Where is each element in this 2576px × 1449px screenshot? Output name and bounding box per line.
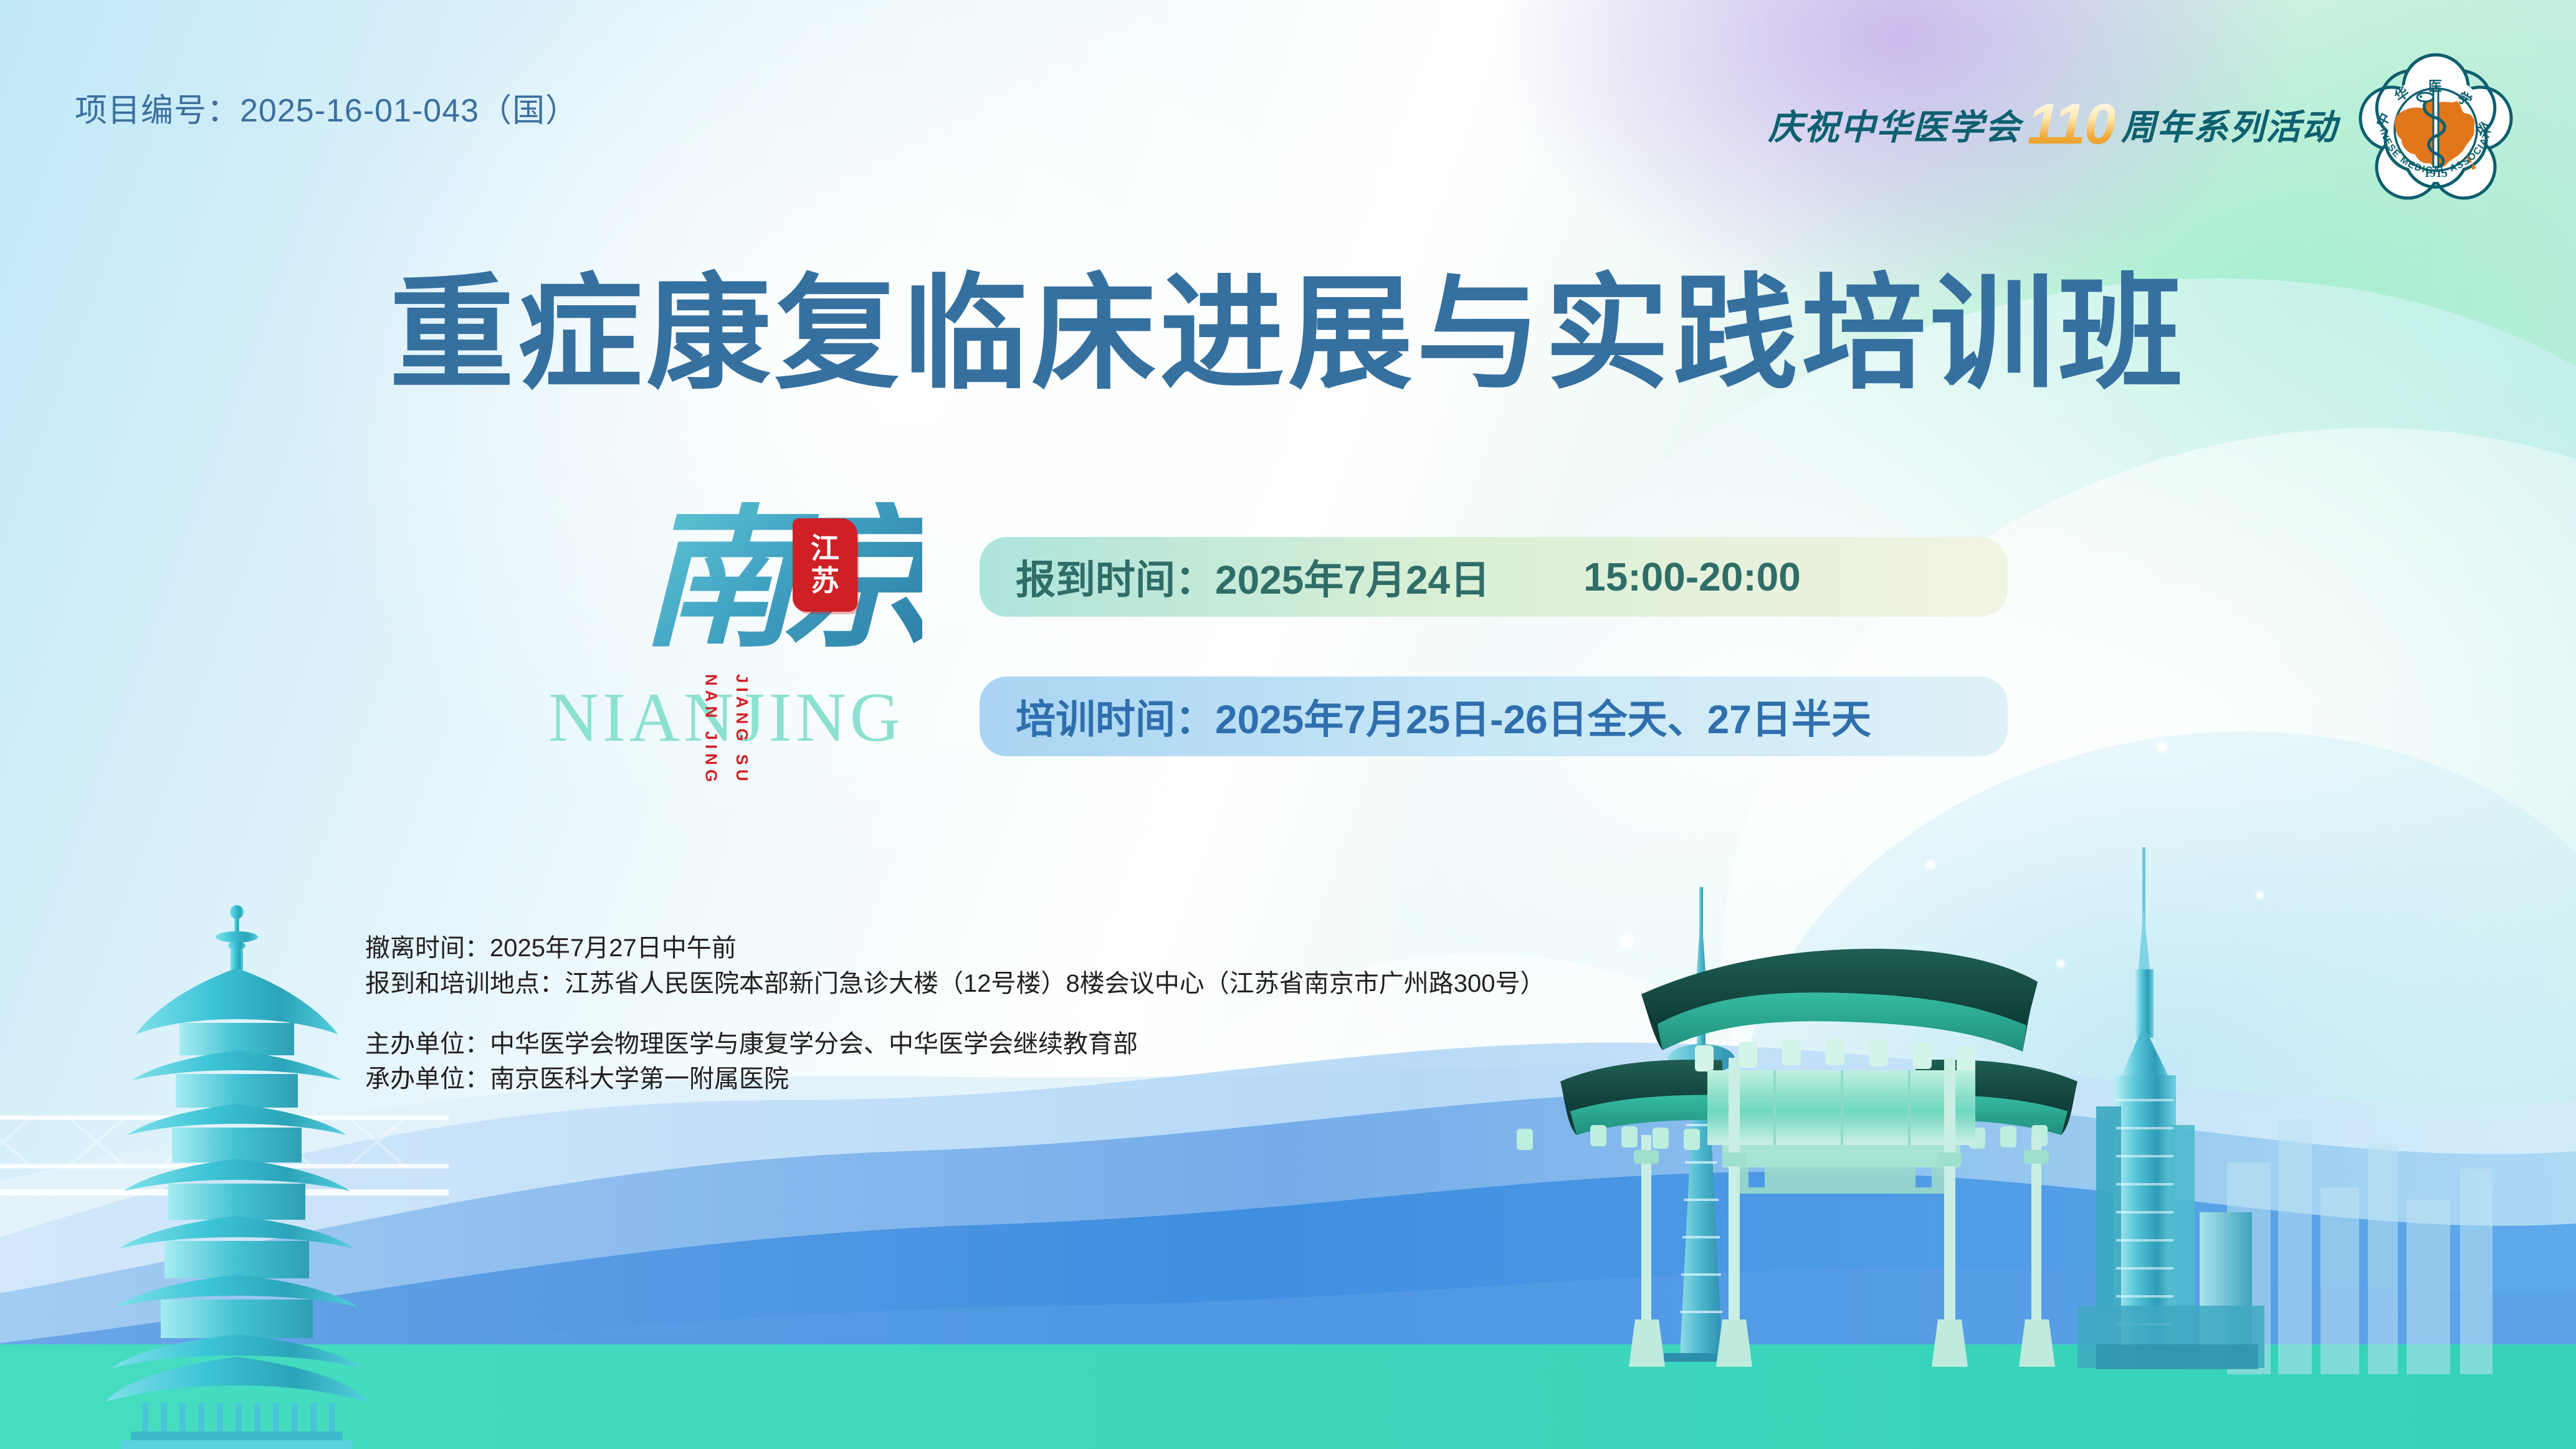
sparkle-dot [2156, 741, 2167, 753]
seal-char-2: 苏 [811, 565, 839, 597]
project-number: 项目编号：2025-16-01-043（国） [75, 84, 578, 131]
pagoda-illustration [106, 901, 368, 1449]
nanjing-calligraphy: 南京 [641, 502, 922, 658]
training-date: 2025年7月25日-26日全天、27日半天 [1215, 688, 1871, 745]
details-block: 撤离时间：2025年7月27日中午前 报到和培训地点：江苏省人民医院本部新门急诊… [365, 931, 1545, 1097]
registration-date: 2025年7月24日 [1215, 548, 1490, 606]
paifang-gate-illustration [1517, 949, 2077, 1367]
nanjing-mark: NIANJING 南京 江 苏 JIANG SU NAN JING [548, 511, 935, 804]
page-title: 重症康复临床进展与实践培训班 [0, 269, 2576, 400]
anniversary-suffix: 周年系列活动 [2121, 99, 2338, 150]
registration-time-pill: 报到时间： 2025年7月24日 15:00-20:00 [980, 537, 2008, 617]
nanjing-pinyin-vertical: JIANG SU NAN JING [695, 674, 757, 804]
seal-char-1: 江 [811, 533, 839, 565]
zifeng-tower-illustration [2077, 847, 2264, 1369]
anniversary-number: 110 [2027, 99, 2115, 151]
host-organization: 主办单位：中华医学会物理医学与康复学分会、中华医学会继续教育部 [365, 1027, 1545, 1062]
organizer-organization: 承办单位：南京医科大学第一附属医院 [365, 1062, 1545, 1097]
poster-canvas: 项目编号：2025-16-01-043（国） 庆祝中华医学会 110 周年系列活… [0, 0, 2576, 1449]
svg-text:医: 医 [2428, 78, 2442, 94]
training-time-pill: 培训时间： 2025年7月25日-26日全天、27日半天 [980, 677, 2008, 756]
jiangsu-seal: 江 苏 [793, 518, 857, 612]
registration-label: 报到时间： [1016, 548, 1215, 606]
skyline-illustration [1517, 814, 2576, 1449]
departure-time: 撤离时间：2025年7月27日中午前 [365, 931, 1545, 966]
anniversary-banner: 庆祝中华医学会 110 周年系列活动 [1768, 99, 2338, 151]
anniversary-prefix: 庆祝中华医学会 [1768, 99, 2021, 150]
registration-time: 15:00-20:00 [1583, 554, 1801, 600]
venue-address: 报到和培训地点：江苏省人民医院本部新门急诊大楼（12号楼）8楼会议中心（江苏省南… [365, 966, 1545, 1002]
cma-logo-icon: 中 华 医 学 会 1915 CHINESE MEDICAL ASSOCIATI… [2358, 49, 2514, 204]
training-label: 培训时间： [1016, 688, 1215, 745]
